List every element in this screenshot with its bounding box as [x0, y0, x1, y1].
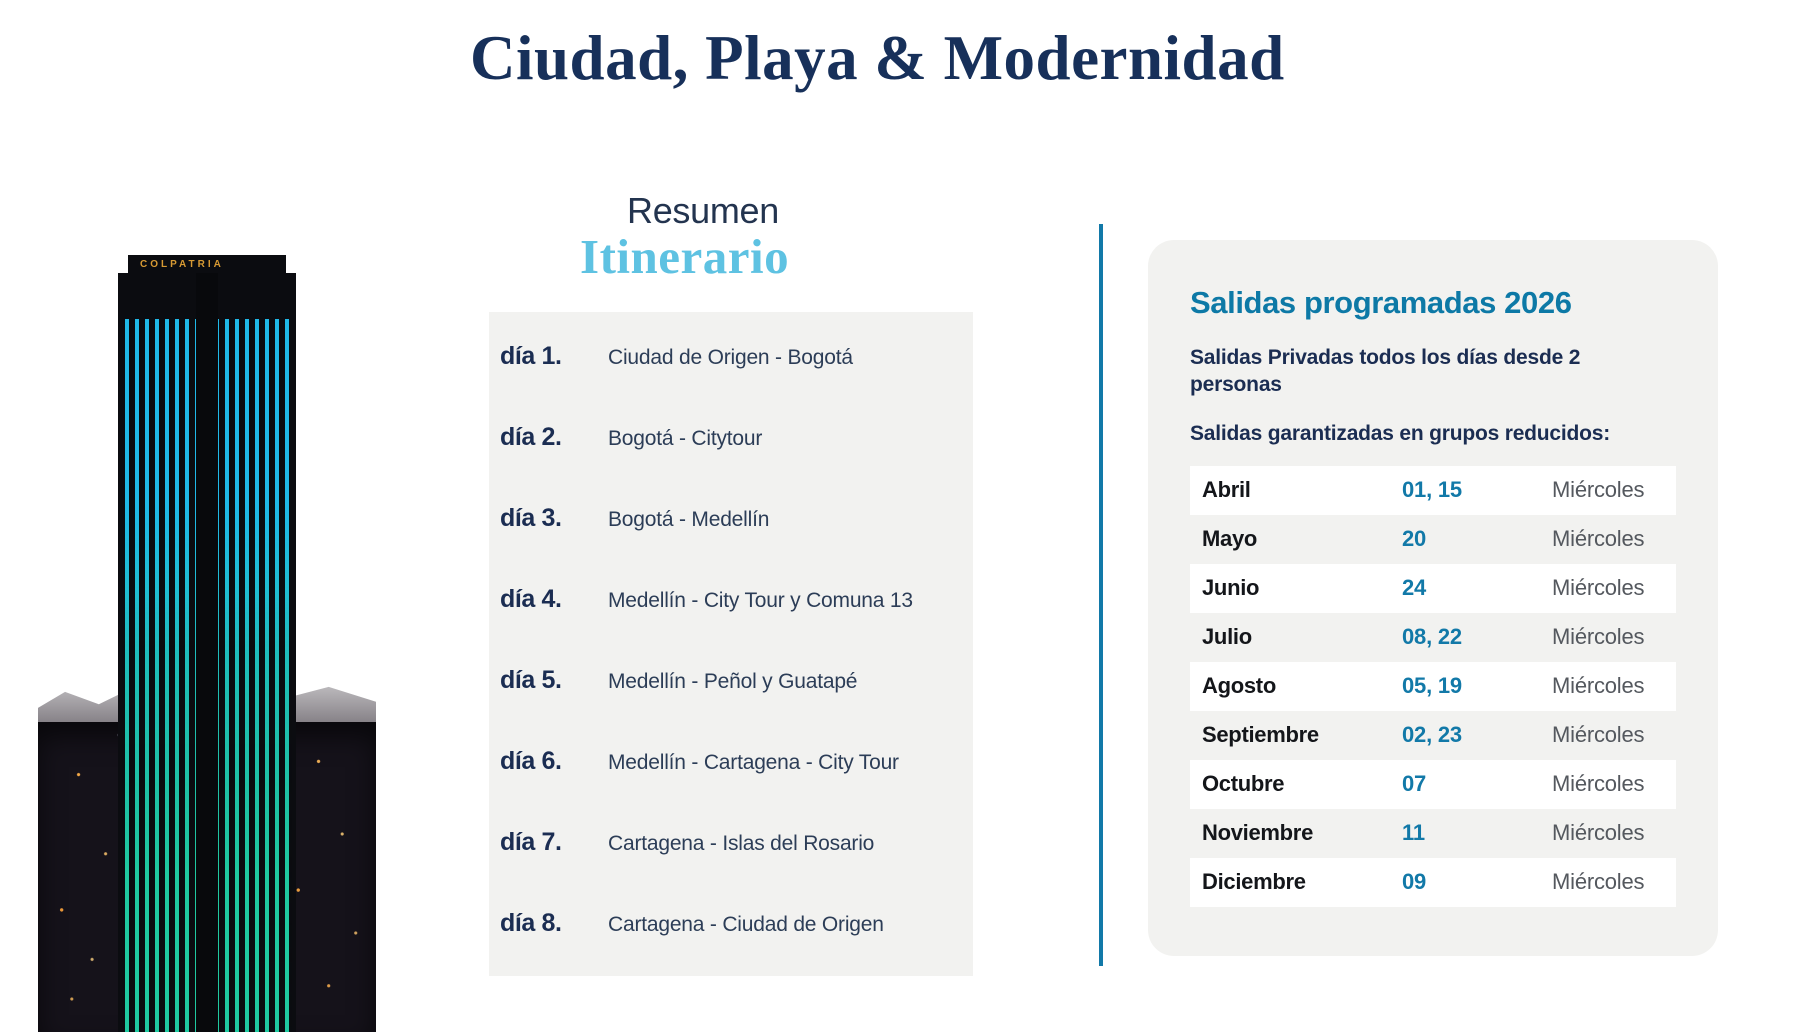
table-row: Junio 24 Miércoles [1190, 564, 1676, 613]
cell-weekday: Miércoles [1540, 809, 1676, 858]
itinerary-day-desc: Medellín - City Tour y Comuna 13 [608, 589, 913, 613]
cell-dates: 20 [1390, 515, 1540, 564]
itinerary-day-label: día 8. [500, 909, 608, 938]
list-item: día 5. Medellín - Peñol y Guatapé [500, 666, 973, 747]
departures-title: Salidas programadas 2026 [1190, 285, 1676, 321]
cell-weekday: Miércoles [1540, 515, 1676, 564]
itinerary-day-desc: Bogotá - Medellín [608, 508, 769, 532]
page-title: Ciudad, Playa & Modernidad [470, 22, 1285, 95]
table-row: Julio 08, 22 Miércoles [1190, 613, 1676, 662]
cell-month: Mayo [1190, 515, 1390, 564]
cell-weekday: Miércoles [1540, 466, 1676, 515]
itinerary-day-desc: Cartagena - Ciudad de Origen [608, 913, 884, 937]
cell-month: Agosto [1190, 662, 1390, 711]
cell-dates: 09 [1390, 858, 1540, 907]
itinerary-day-label: día 5. [500, 666, 608, 695]
cell-weekday: Miércoles [1540, 711, 1676, 760]
cell-month: Diciembre [1190, 858, 1390, 907]
hero-photo: COLPATRIA [38, 0, 376, 1032]
list-item: día 7. Cartagena - Islas del Rosario [500, 828, 973, 909]
cell-dates: 08, 22 [1390, 613, 1540, 662]
cell-month: Junio [1190, 564, 1390, 613]
itinerary-day-label: día 4. [500, 585, 608, 614]
itinerary-day-label: día 1. [500, 342, 608, 371]
cell-weekday: Miércoles [1540, 613, 1676, 662]
list-item: día 3. Bogotá - Medellín [500, 504, 973, 585]
cell-dates: 02, 23 [1390, 711, 1540, 760]
cell-dates: 05, 19 [1390, 662, 1540, 711]
cell-weekday: Miércoles [1540, 858, 1676, 907]
cell-dates: 11 [1390, 809, 1540, 858]
itinerary-day-desc: Ciudad de Origen - Bogotá [608, 346, 853, 370]
table-row: Diciembre 09 Miércoles [1190, 858, 1676, 907]
departures-panel: Salidas programadas 2026 Salidas Privada… [1148, 240, 1718, 956]
cell-month: Septiembre [1190, 711, 1390, 760]
cell-weekday: Miércoles [1540, 564, 1676, 613]
list-item: día 6. Medellín - Cartagena - City Tour [500, 747, 973, 828]
departures-note-guaranteed: Salidas garantizadas en grupos reducidos… [1190, 421, 1670, 448]
tower-sign-label: COLPATRIA [140, 259, 224, 270]
colpatria-tower: COLPATRIA [118, 273, 296, 1032]
departures-table: Abril 01, 15 Miércoles Mayo 20 Miércoles… [1190, 466, 1676, 907]
cell-month: Julio [1190, 613, 1390, 662]
cell-month: Noviembre [1190, 809, 1390, 858]
tower-center-column [196, 273, 218, 1032]
itinerary-heading: Itinerario [580, 228, 789, 285]
slide-canvas: COLPATRIA Ciudad, Playa & Modernidad Res… [0, 0, 1815, 1032]
cell-dates: 07 [1390, 760, 1540, 809]
table-row: Agosto 05, 19 Miércoles [1190, 662, 1676, 711]
cell-month: Abril [1190, 466, 1390, 515]
vertical-divider [1099, 224, 1103, 966]
itinerary-day-desc: Medellín - Peñol y Guatapé [608, 670, 857, 694]
cell-dates: 01, 15 [1390, 466, 1540, 515]
itinerary-eyebrow: Resumen [627, 190, 779, 232]
table-row: Septiembre 02, 23 Miércoles [1190, 711, 1676, 760]
itinerary-day-label: día 2. [500, 423, 608, 452]
table-row: Octubre 07 Miércoles [1190, 760, 1676, 809]
itinerary-day-label: día 7. [500, 828, 608, 857]
list-item: día 8. Cartagena - Ciudad de Origen [500, 909, 973, 990]
cell-month: Octubre [1190, 760, 1390, 809]
list-item: día 1. Ciudad de Origen - Bogotá [500, 342, 973, 423]
cell-weekday: Miércoles [1540, 760, 1676, 809]
itinerary-day-desc: Bogotá - Citytour [608, 427, 762, 451]
list-item: día 2. Bogotá - Citytour [500, 423, 973, 504]
cell-weekday: Miércoles [1540, 662, 1676, 711]
list-item: día 4. Medellín - City Tour y Comuna 13 [500, 585, 973, 666]
cell-dates: 24 [1390, 564, 1540, 613]
itinerary-list: día 1. Ciudad de Origen - Bogotá día 2. … [489, 312, 973, 976]
departures-note-private: Salidas Privadas todos los días desde 2 … [1190, 345, 1670, 399]
itinerary-day-desc: Cartagena - Islas del Rosario [608, 832, 874, 856]
itinerary-day-label: día 6. [500, 747, 608, 776]
itinerary-day-label: día 3. [500, 504, 608, 533]
table-row: Mayo 20 Miércoles [1190, 515, 1676, 564]
table-row: Noviembre 11 Miércoles [1190, 809, 1676, 858]
itinerary-day-desc: Medellín - Cartagena - City Tour [608, 751, 899, 775]
table-row: Abril 01, 15 Miércoles [1190, 466, 1676, 515]
